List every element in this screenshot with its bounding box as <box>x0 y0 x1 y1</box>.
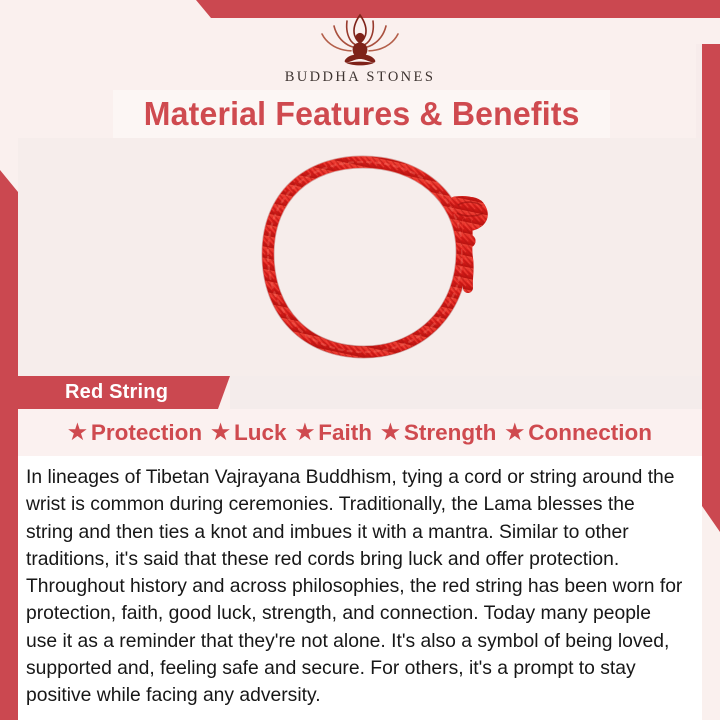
feature-label: Protection <box>91 420 202 446</box>
ribbon-background-strip <box>230 376 702 409</box>
right-accent-bar <box>702 18 720 532</box>
description-panel: In lineages of Tibetan Vajrayana Buddhis… <box>18 456 702 720</box>
feature-item-protection: ★ Protection <box>68 420 202 446</box>
title-banner: Material Features & Benefits <box>113 90 610 138</box>
feature-item-connection: ★ Connection <box>505 420 652 446</box>
star-icon: ★ <box>295 422 314 443</box>
product-image-panel <box>18 138 702 376</box>
left-accent-bar <box>0 170 18 720</box>
lotus-meditation-icon <box>306 12 414 68</box>
feature-label: Faith <box>318 420 372 446</box>
feature-item-faith: ★ Faith <box>295 420 372 446</box>
feature-label: Strength <box>404 420 497 446</box>
star-icon: ★ <box>505 422 524 443</box>
star-icon: ★ <box>381 422 400 443</box>
page-title: Material Features & Benefits <box>144 95 580 133</box>
description-text: In lineages of Tibetan Vajrayana Buddhis… <box>26 464 685 710</box>
feature-label: Luck <box>234 420 287 446</box>
star-icon: ★ <box>211 422 230 443</box>
feature-list: ★ Protection ★ Luck ★ Faith ★ Strength ★… <box>18 409 702 456</box>
red-string-bracelet-image <box>18 138 702 376</box>
feature-item-luck: ★ Luck <box>211 420 286 446</box>
brand-name: BUDDHA STONES <box>285 69 436 86</box>
material-name-ribbon: Red String <box>18 376 230 409</box>
brand-logo: BUDDHA STONES <box>0 12 720 90</box>
feature-item-strength: ★ Strength <box>381 420 496 446</box>
feature-label: Connection <box>528 420 652 446</box>
star-icon: ★ <box>68 422 87 443</box>
material-name-label: Red String <box>65 381 168 404</box>
